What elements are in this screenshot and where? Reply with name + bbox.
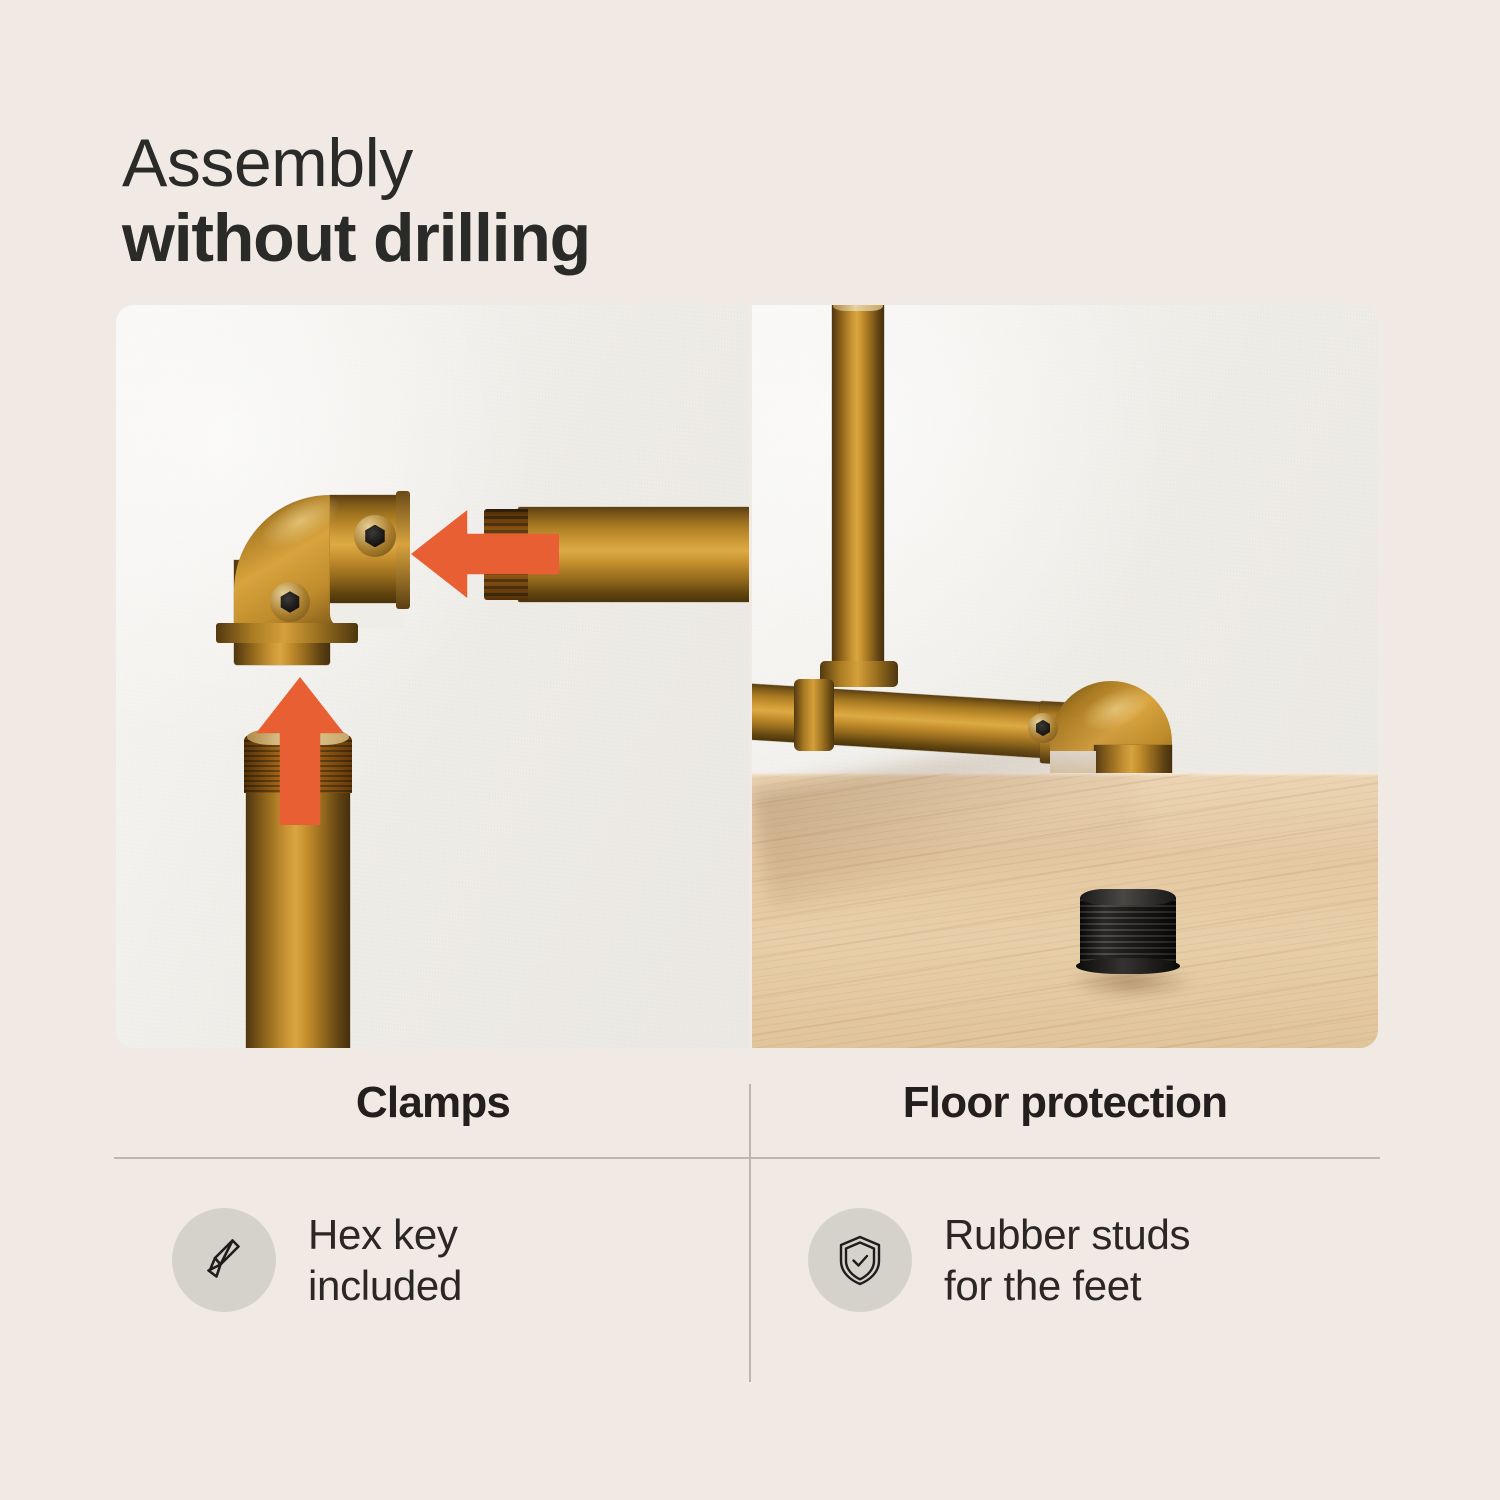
rubber-stud <box>1080 893 1176 971</box>
caption-clamps: Clamps <box>116 1078 750 1128</box>
rubber-stud-flange <box>1076 958 1180 974</box>
clamp-screw-lower <box>270 582 310 622</box>
feature-hex-key: Hex key included <box>172 1208 462 1312</box>
shield-check-icon <box>808 1208 912 1312</box>
feature-hex-key-label: Hex key included <box>308 1209 462 1311</box>
feature-rubber-studs-label: Rubber studs for the feet <box>944 1209 1190 1311</box>
wall-highlight <box>116 305 750 1048</box>
rail-tee-left <box>794 679 834 751</box>
headline-line-1: Assembly <box>122 128 590 199</box>
horizontal-divider <box>114 1157 1380 1159</box>
page-title: Assembly without drilling <box>122 128 590 273</box>
clamp-screw-upper <box>354 515 396 557</box>
photo-floor-protection <box>750 305 1378 1048</box>
vertical-divider <box>749 1084 751 1382</box>
product-photo-panel <box>116 305 1378 1048</box>
vertical-upright-pipe <box>832 305 884 671</box>
hex-key-icon <box>172 1208 276 1312</box>
headline-line-2: without drilling <box>122 203 590 274</box>
photo-clamps <box>116 305 750 1048</box>
rubber-stud-top <box>1081 889 1175 905</box>
panel-divider-gap <box>749 305 752 1048</box>
caption-floor-protection: Floor protection <box>752 1078 1378 1128</box>
feature-rubber-studs: Rubber studs for the feet <box>808 1208 1190 1312</box>
